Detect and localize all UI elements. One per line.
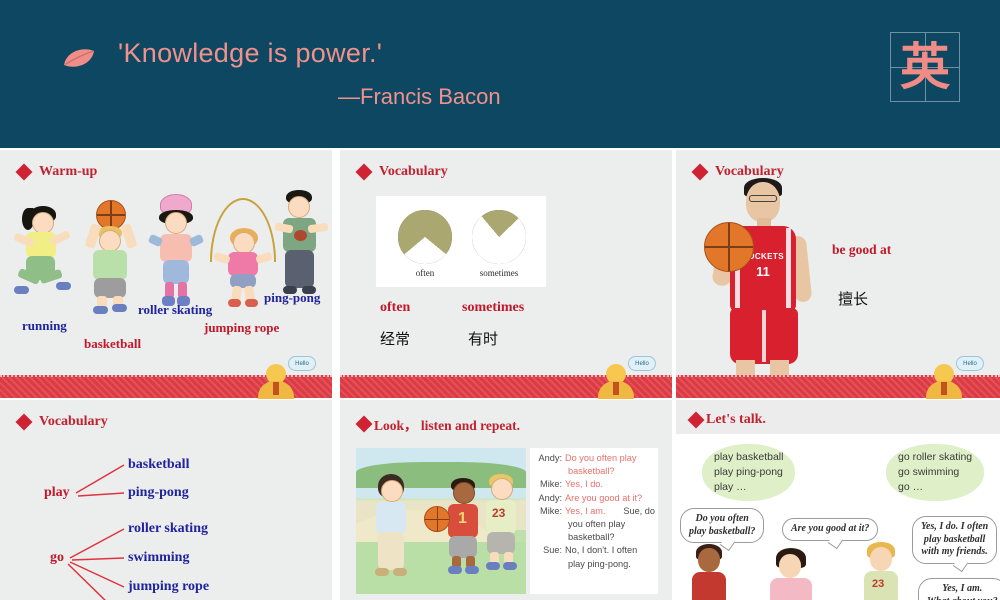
basketball-icon (704, 222, 754, 272)
cloud-line: play basketball (714, 450, 783, 465)
speech-line: with my friends. (921, 546, 988, 559)
dialogue-continuation: basketball? (534, 465, 655, 478)
speech-line: play basketball (921, 534, 988, 547)
illustration-boy-green: 23 (480, 474, 522, 578)
pie-caption-sometimes: sometimes (464, 268, 534, 278)
label-jumping-rope: jumping rope (204, 320, 279, 336)
cloud-line: go roller skating (898, 450, 972, 465)
pie-chart-card: often sometimes (376, 196, 546, 287)
dialogue-plain: No, I don't. I often (565, 544, 655, 557)
cloud-line: play ping-pong (714, 465, 783, 480)
dialogue-line: Mike: Yes, I am. Sue, do (534, 505, 655, 518)
avatar: Hello (922, 356, 978, 396)
label-running: running (22, 318, 67, 334)
dialogue-line: Andy: Are you good at it? (534, 492, 655, 505)
speech-bubble-yes-i-do: Yes, I do. I often play basketball with … (912, 516, 997, 564)
pie-slice-often (398, 210, 452, 264)
header-banner: 'Knowledge is power.' —Francis Bacon 英 (0, 0, 1000, 148)
vocab-zh-often: 经常 (380, 328, 410, 349)
panel-heading-warm-up: Warm-up (18, 164, 97, 180)
dialogue-speaker: Andy: (534, 492, 565, 505)
panel-look-listen-repeat: Look， listen and repeat. 1 (340, 400, 672, 600)
label-roller-skating: roller skating (138, 302, 212, 318)
leaf-icon (62, 48, 96, 68)
panel-vocabulary-mindmap: Vocabulary play basketball ping-pong go … (0, 400, 332, 600)
speech-bubble-yes-i-am: Yes, I am. What about you? (918, 578, 1000, 600)
vocab-en-be-good-at: be good at (832, 242, 891, 258)
avatar: Hello (594, 356, 650, 396)
slide-canvas: 'Knowledge is power.' —Francis Bacon 英 W… (0, 0, 1000, 600)
glasses-icon (749, 195, 777, 202)
hello-bubble: Hello (288, 356, 316, 371)
dialogue-continuation: basketball? (534, 531, 655, 544)
vocab-en-sometimes: sometimes (462, 300, 524, 316)
hello-bubble: Hello (628, 356, 656, 371)
dialogue-line: Andy: Do you often play (534, 452, 655, 465)
dialogue-speaker: Sue: (534, 544, 565, 557)
talk-kid-left (690, 544, 732, 600)
diamond-bullet-icon (356, 164, 373, 181)
footer-band-2: Hello (340, 375, 672, 398)
pie-chart-often (398, 210, 452, 264)
panel-heading-look-listen: Look， listen and repeat. (358, 414, 520, 434)
diamond-bullet-icon (688, 412, 705, 429)
footer-band-3: Hello (676, 375, 1000, 398)
diamond-bullet-icon (356, 416, 373, 433)
dialogue-quote: Yes, I am. (565, 505, 623, 518)
panel-heading-label: Let's talk. (706, 412, 766, 428)
label-basketball: basketball (84, 336, 141, 352)
avatar: Hello (254, 356, 310, 396)
footer-band-1: Hello (0, 375, 332, 398)
cloud-line: go swimming (898, 465, 972, 480)
panel-warm-up: Warm-up (0, 150, 332, 375)
panel-heading-lets-talk: Let's talk. (690, 412, 766, 428)
basketball-player-photo: ROCKETS 11 (704, 178, 826, 375)
dialogue-text-box: Andy: Do you often play basketball? Mike… (530, 448, 658, 594)
word-cloud-play: play basketball play ping-pong play … (702, 444, 795, 501)
illustration-girl (370, 474, 414, 578)
dialogue-quote: Are you good at it? (565, 492, 655, 505)
label-ping-pong: ping-pong (264, 290, 320, 306)
pie-caption-often: often (398, 268, 452, 278)
figure-ping-pong (278, 190, 326, 302)
quote-text: 'Knowledge is power.' (118, 38, 382, 69)
dialogue-illustration: 1 23 (356, 448, 526, 594)
mindmap-root-play: play (44, 485, 70, 501)
speech-line: Are you good at it? (791, 523, 869, 536)
chinese-seal: 英 (890, 32, 960, 102)
vocab-zh-sometimes: 有时 (468, 328, 498, 349)
mindmap-leaf-roller-skating: roller skating (128, 521, 208, 537)
dialogue-quote: Yes, I do. (565, 478, 655, 491)
mindmap-leaf-ping-pong: ping-pong (128, 485, 189, 501)
pie-slice-sometimes (472, 210, 526, 264)
figure-running (14, 202, 78, 307)
speech-line: Yes, I am. (927, 583, 998, 596)
panel-heading-label: Warm-up (39, 164, 97, 180)
dialogue-speaker: Mike: (534, 478, 565, 491)
mindmap-leaf-swimming: swimming (128, 550, 189, 566)
cloud-line: go … (898, 480, 972, 495)
mindmap-leaf-jumping-rope: jumping rope (128, 579, 209, 595)
dialogue-speaker: Mike: (534, 505, 565, 518)
speech-bubble-are-you-good: Are you good at it? (782, 518, 878, 541)
pie-chart-sometimes (472, 210, 526, 264)
paddle-icon (294, 230, 307, 241)
speech-bubble-do-you-often: Do you often play basketball? (680, 508, 764, 543)
vocab-en-often: often (380, 300, 410, 316)
speech-line: Do you often (689, 513, 755, 526)
talk-kid-right: 23 (862, 542, 906, 600)
seal-character: 英 (900, 42, 950, 92)
panel-lets-talk: Let's talk. play basketball play ping-po… (676, 400, 1000, 600)
dialogue-line: Mike: Yes, I do. (534, 478, 655, 491)
panel-heading-label: Look， listen and repeat. (374, 414, 520, 434)
mindmap-root-go: go (50, 550, 64, 566)
cloud-line: play … (714, 480, 783, 495)
dialogue-plain: Sue, do (623, 505, 655, 518)
vocab-zh-be-good-at: 擅长 (838, 288, 868, 309)
dialogue-continuation: you often play (534, 518, 655, 531)
word-cloud-go: go roller skating go swimming go … (886, 444, 984, 501)
dialogue-speaker: Andy: (534, 452, 565, 465)
figure-roller-skating (148, 194, 206, 309)
figure-basketball (80, 200, 144, 310)
panel-vocabulary-often: Vocabulary often sometimes often sometim… (340, 150, 672, 375)
panel-vocabulary-be-good-at: Vocabulary ROCKETS 11 be good at 擅长 (676, 150, 1000, 375)
speech-line: What about you? (927, 596, 998, 600)
hello-bubble: Hello (956, 356, 984, 371)
dialogue-quote: Do you often play (565, 452, 655, 465)
mindmap-leaf-basketball: basketball (128, 457, 189, 473)
dialogue-continuation: play ping-pong. (534, 558, 655, 571)
panel-heading-vocabulary-often: Vocabulary (358, 164, 448, 180)
diamond-bullet-icon (16, 164, 33, 181)
dialogue-line: Sue: No, I don't. I often (534, 544, 655, 557)
speech-line: play basketball? (689, 526, 755, 539)
talk-kid-center (770, 548, 818, 600)
speech-line: Yes, I do. I often (921, 521, 988, 534)
panel-heading-label: Vocabulary (379, 164, 448, 180)
quote-attribution: —Francis Bacon (338, 84, 501, 110)
